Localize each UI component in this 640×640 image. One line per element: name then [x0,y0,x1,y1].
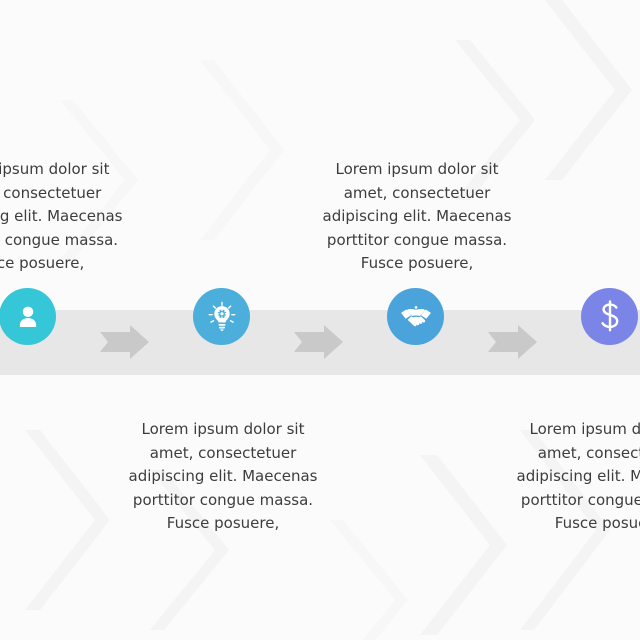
step-text-3: Lorem ipsum dolor sit amet, consectetuer… [319,158,515,276]
slide-canvas: rtArt [0,0,640,640]
step-text-4: Lorem ipsum dolor sit amet, consectetuer… [513,418,640,536]
right-arrow-icon [100,324,150,360]
process-row [0,310,640,375]
right-arrow-icon [488,324,538,360]
step-node-4[interactable] [581,288,638,345]
lightbulb-gear-icon [206,301,238,333]
step-node-3[interactable] [387,288,444,345]
step-text-1: Lorem ipsum dolor sit amet, consectetuer… [0,158,126,276]
person-icon [13,302,43,332]
step-node-2[interactable] [193,288,250,345]
handshake-icon [400,302,432,332]
dollar-sign-icon [595,300,625,334]
step-text-2: Lorem ipsum dolor sit amet, consectetuer… [125,418,321,536]
right-arrow-icon [294,324,344,360]
connector-arrow-1 [100,324,150,360]
connector-arrow-2 [294,324,344,360]
connector-arrow-3 [488,324,538,360]
step-node-1[interactable] [0,288,56,345]
